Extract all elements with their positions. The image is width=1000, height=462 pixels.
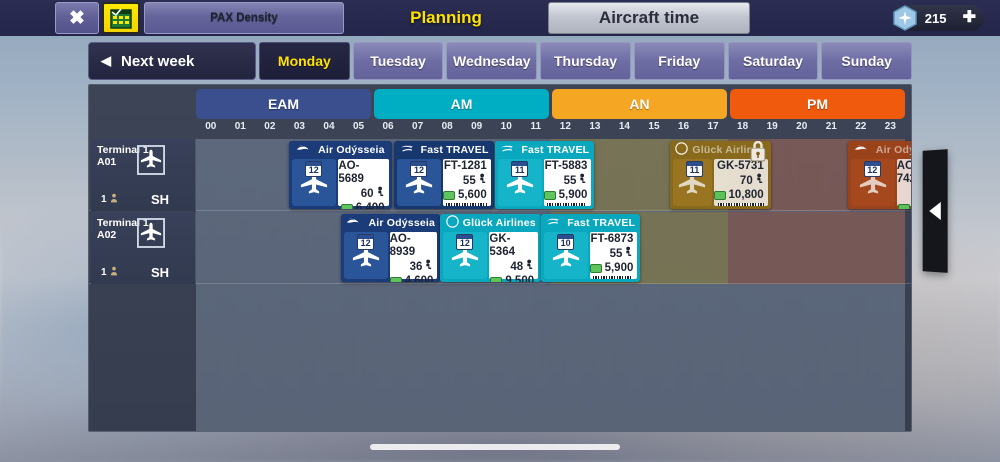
flight-revenue: 5,900: [544, 189, 588, 202]
passenger-icon: [624, 246, 633, 262]
flight-revenue: 7,300: [898, 202, 912, 209]
contract-days-value: 12: [460, 238, 470, 249]
passenger-icon: [424, 259, 433, 275]
passenger-count: 60: [361, 186, 385, 202]
period-label: PM: [807, 96, 828, 112]
hour-tick-11: 11: [521, 121, 551, 137]
stand-row[interactable]: Terminal 1A011SHAir Odýsseia12AO-5689606…: [89, 139, 911, 211]
airline-name: Air Odýsseia: [368, 217, 435, 229]
badge-header: [358, 235, 373, 239]
hour-tick-14: 14: [610, 121, 640, 137]
flight-info: AO-7428607,300: [897, 159, 912, 206]
hour-tick-05: 05: [344, 121, 374, 137]
money-icon: [390, 277, 402, 282]
money-icon: [341, 204, 353, 209]
flight-info: GK-5364489,500: [489, 232, 538, 279]
period-band-cell: [226, 212, 256, 284]
passenger-count-value: 48: [510, 261, 523, 274]
aircraft-stand-icon: [137, 145, 165, 175]
passenger-count-value: 70: [740, 175, 753, 188]
period-header-eam[interactable]: EAM: [196, 89, 371, 119]
day-selector-bar: ◀ Next week MondayTuesdayWednesdayThursd…: [88, 42, 912, 82]
hour-tick-22: 22: [846, 121, 876, 137]
passenger-icon: [110, 266, 118, 279]
row-divider: [89, 283, 911, 284]
aircraft-thumbnail: 12: [344, 232, 387, 279]
airline-brand: Air Odýsseia: [848, 141, 912, 158]
period-label: EAM: [268, 96, 299, 112]
airline-name: Air Odýsseia: [318, 144, 385, 156]
day-tab-label: Friday: [658, 53, 700, 69]
period-band-cell: [669, 212, 699, 284]
period-band-cell: [639, 212, 669, 284]
contract-days-badge: 12: [305, 161, 322, 177]
airline-name: Air Odýsseia: [876, 144, 912, 156]
flight-info: FT-1281555,600: [443, 159, 491, 206]
day-tab-label: Monday: [278, 53, 331, 69]
flight-revenue: 5,900: [590, 262, 634, 275]
day-tab-friday[interactable]: Friday: [634, 42, 725, 80]
hour-tick-02: 02: [255, 121, 285, 137]
planner-header: EAMAMANPM 000102030405060708091011121314…: [89, 85, 911, 139]
flight-revenue-value: 6,400: [356, 202, 385, 209]
period-band-cell: [757, 212, 787, 284]
flight-card[interactable]: Fast TRAVEL10FT-6873555,900: [541, 214, 640, 282]
flight-revenue-value: 10,800: [729, 189, 764, 202]
stand-size-label: SH: [151, 265, 169, 280]
stand-row[interactable]: Terminal 1A021SHAir Odýsseia12AO-8939364…: [89, 212, 911, 284]
hour-tick-16: 16: [669, 121, 699, 137]
aircraft-thumbnail: 12: [851, 159, 895, 206]
flight-card[interactable]: Fast TRAVEL11FT-5883555,900: [495, 141, 594, 209]
day-tab-wednesday[interactable]: Wednesday: [446, 42, 537, 80]
period-header-am[interactable]: AM: [374, 89, 549, 119]
calendar-icon: [109, 6, 133, 30]
stand-capacity: 1: [101, 266, 118, 279]
stand-label-cell[interactable]: Terminal 1A011SH: [91, 139, 196, 211]
contract-days-badge: 10: [557, 234, 574, 250]
flight-number: AO-7428: [897, 160, 912, 186]
stand-label-cell[interactable]: Terminal 1A021SH: [91, 212, 196, 284]
stand-capacity: 1: [101, 193, 118, 206]
period-band-cell: [314, 212, 344, 284]
period-band-cell: [816, 139, 846, 211]
hour-tick-17: 17: [698, 121, 728, 137]
flight-revenue: 9,500: [490, 275, 534, 282]
airline-brand: Fast TRAVEL: [495, 141, 594, 158]
flight-card-body: 11GK-57317010,800: [673, 159, 768, 206]
day-tab-label: Saturday: [743, 53, 803, 69]
tab-pax-density-label: PAX Density: [210, 12, 278, 25]
badge-header: [687, 162, 702, 166]
contract-days-value: 12: [414, 165, 424, 176]
flight-revenue-value: 5,900: [605, 262, 634, 275]
flight-info: AO-8939364,600: [390, 232, 438, 279]
contract-days-value: 12: [361, 238, 371, 249]
period-band-cell: [285, 212, 315, 284]
currency-amount: 215: [919, 11, 953, 26]
stand-capacity-value: 1: [101, 194, 107, 205]
flight-revenue-value: 5,600: [458, 189, 487, 202]
stand-size-label: SH: [151, 192, 169, 207]
badge-header: [457, 235, 472, 239]
calendar-icon-button[interactable]: [102, 2, 140, 34]
barcode: [547, 203, 587, 206]
day-tab-label: Thursday: [554, 53, 617, 69]
flight-card-body: 12AO-7428607,300: [851, 159, 912, 206]
flight-card-body: 10FT-6873555,900: [544, 232, 637, 279]
period-header-an[interactable]: AN: [552, 89, 727, 119]
flight-card-body: 12GK-5364489,500: [443, 232, 538, 279]
tab-pax-density[interactable]: PAX Density: [144, 2, 344, 34]
period-label: AN: [629, 96, 649, 112]
day-tab-label: Tuesday: [370, 53, 426, 69]
aircraft-thumbnail: 11: [498, 159, 541, 206]
passenger-count-value: 55: [463, 175, 476, 188]
airline-brand: Air Odýsseia: [341, 214, 440, 231]
passenger-count: 55: [463, 173, 487, 189]
contract-days-value: 10: [561, 238, 571, 249]
hour-tick-09: 09: [462, 121, 492, 137]
aircraft-thumbnail: 10: [544, 232, 587, 279]
flight-card-body: 11FT-5883555,900: [498, 159, 591, 206]
flight-card[interactable]: Fast TRAVEL12FT-1281555,600: [394, 141, 493, 209]
passenger-count-value: 36: [410, 261, 423, 274]
period-band-cell: [787, 212, 817, 284]
barcode: [593, 276, 633, 279]
currency-display[interactable]: 215 ✚: [893, 5, 984, 31]
passenger-icon: [110, 193, 118, 206]
stand-code: A01: [97, 156, 116, 168]
airline-brand: Fast TRAVEL: [394, 141, 493, 158]
lock-icon: [748, 141, 768, 163]
period-header-pm[interactable]: PM: [730, 89, 905, 119]
flight-revenue-value: 9,500: [505, 275, 534, 282]
hour-tick-10: 10: [491, 121, 521, 137]
period-band-cell: [196, 139, 226, 211]
passenger-icon: [376, 186, 385, 202]
hour-tick-20: 20: [787, 121, 817, 137]
hour-tick-03: 03: [285, 121, 315, 137]
passenger-icon: [525, 259, 534, 275]
passenger-icon: [478, 173, 487, 189]
passenger-count-value: 60: [361, 188, 374, 201]
tab-aircraft-time[interactable]: Aircraft time: [548, 2, 750, 34]
passenger-count: 55: [564, 173, 588, 189]
period-band-cell: [226, 139, 256, 211]
money-icon: [898, 204, 910, 209]
prev-week-arrow-icon[interactable]: ◀: [101, 53, 111, 69]
flight-number: FT-6873: [591, 233, 634, 246]
badge-header: [512, 162, 527, 166]
hour-tick-07: 07: [403, 121, 433, 137]
stand-capacity-value: 1: [101, 267, 107, 278]
money-icon: [714, 191, 726, 200]
horizontal-scrollbar[interactable]: [370, 444, 620, 450]
compass-icon: [446, 215, 459, 231]
airline-brand: Glück Airlines: [440, 214, 541, 231]
hour-tick-21: 21: [816, 121, 846, 137]
airline-name: Fast TRAVEL: [421, 144, 489, 156]
chevron-left-icon: [929, 202, 941, 220]
money-icon: [490, 277, 502, 282]
flight-info: FT-6873555,900: [590, 232, 638, 279]
hour-tick-13: 13: [580, 121, 610, 137]
flight-number: GK-5364: [489, 233, 534, 259]
stand-code: A02: [97, 229, 116, 241]
period-label: AM: [451, 96, 473, 112]
airline-name: Glück Airlines: [463, 217, 536, 229]
tab-planning-label: Planning: [410, 8, 482, 28]
collapse-panel-handle[interactable]: [923, 149, 948, 273]
barcode: [718, 203, 764, 206]
aircraft-stand-icon: [137, 218, 165, 248]
flight-revenue: 10,800: [714, 189, 764, 202]
bird-icon: [296, 144, 314, 156]
flight-revenue-value: 4,600: [405, 275, 434, 282]
flight-revenue: 4,600: [390, 275, 434, 282]
flight-number: AO-5689: [338, 160, 384, 186]
top-toolbar: ✖ PAX Density Planning Aircra: [0, 0, 1000, 36]
barcode: [446, 203, 486, 206]
row-divider: [89, 210, 911, 211]
contract-days-value: 12: [867, 165, 877, 176]
flight-info: AO-5689606,400: [338, 159, 388, 206]
flight-info: GK-57317010,800: [714, 159, 768, 206]
contract-days-value: 11: [690, 165, 700, 176]
money-icon: [544, 191, 556, 200]
passenger-count-value: 55: [564, 175, 577, 188]
hour-tick-01: 01: [226, 121, 256, 137]
flight-info: FT-5883555,900: [544, 159, 592, 206]
contract-days-badge: 11: [686, 161, 703, 177]
flight-card[interactable]: Air Odýsseia12AO-7428607,300: [848, 141, 912, 209]
day-tab-saturday[interactable]: Saturday: [728, 42, 819, 80]
hour-tick-18: 18: [728, 121, 758, 137]
passenger-count: 70: [740, 173, 764, 189]
contract-days-badge: 12: [864, 161, 881, 177]
airline-brand: Fast TRAVEL: [541, 214, 640, 231]
period-band-cell: [728, 212, 758, 284]
plane-token-icon: [891, 4, 919, 32]
hour-ruler: 0001020304050607080910111213141516171819…: [196, 121, 905, 137]
swoosh-icon: [546, 216, 563, 230]
period-band-cell: [196, 212, 226, 284]
passenger-count: 48: [510, 259, 534, 275]
money-icon: [590, 264, 602, 273]
hour-tick-12: 12: [551, 121, 581, 137]
passenger-icon: [755, 173, 764, 189]
day-tab-sunday[interactable]: Sunday: [821, 42, 912, 80]
period-band-cell: [639, 139, 669, 211]
flight-card[interactable]: Glück Airlines12GK-5364489,500: [440, 214, 541, 282]
day-tab-label: Wednesday: [453, 53, 531, 69]
planner-panel: EAMAMANPM 000102030405060708091011121314…: [88, 84, 912, 432]
compass-icon: [675, 142, 688, 158]
period-band-cell: [698, 212, 728, 284]
badge-header: [865, 162, 880, 166]
flight-card[interactable]: Air Odýsseia12AO-8939364,600: [341, 214, 440, 282]
period-header-row: EAMAMANPM: [196, 89, 905, 119]
aircraft-thumbnail: 12: [397, 159, 440, 206]
contract-days-value: 11: [515, 165, 525, 176]
badge-header: [411, 162, 426, 166]
period-band-cell: [876, 212, 906, 284]
period-band-cell: [255, 212, 285, 284]
flight-card-body: 12FT-1281555,600: [397, 159, 490, 206]
aircraft-thumbnail: 11: [673, 159, 712, 206]
airline-name: Fast TRAVEL: [521, 144, 589, 156]
flight-number: FT-5883: [545, 160, 588, 173]
hour-tick-06: 06: [373, 121, 403, 137]
swoosh-icon: [500, 143, 517, 157]
next-week-button[interactable]: ◀ Next week: [88, 42, 256, 80]
passenger-count: 36: [410, 259, 434, 275]
flight-revenue: 5,600: [443, 189, 487, 202]
close-button[interactable]: ✖: [55, 2, 99, 34]
next-week-label: Next week: [121, 53, 194, 70]
flight-card[interactable]: Air Odýsseia12AO-5689606,400: [289, 141, 391, 209]
planner-grid[interactable]: Terminal 1A011SHAir Odýsseia12AO-5689606…: [89, 139, 911, 431]
contract-days-value: 12: [309, 165, 319, 176]
swoosh-icon: [400, 143, 417, 157]
flight-revenue-value: 5,900: [559, 189, 588, 202]
day-tab-label: Sunday: [841, 53, 892, 69]
hour-tick-23: 23: [876, 121, 906, 137]
airline-brand: Air Odýsseia: [289, 141, 391, 158]
bird-icon: [854, 144, 872, 156]
hour-tick-08: 08: [432, 121, 462, 137]
passenger-icon: [578, 173, 587, 189]
period-band-cell: [255, 139, 285, 211]
flight-card-body: 12AO-8939364,600: [344, 232, 437, 279]
contract-days-badge: 12: [357, 234, 374, 250]
flight-card[interactable]: Glück Airlines11GK-57317010,800: [670, 141, 771, 209]
period-band-cell: [610, 139, 640, 211]
airline-name: Fast TRAVEL: [567, 217, 635, 229]
day-tab-tuesday[interactable]: Tuesday: [353, 42, 444, 80]
flight-number: FT-1281: [444, 160, 487, 173]
passenger-count: 55: [610, 246, 634, 262]
contract-days-badge: 12: [456, 234, 473, 250]
contract-days-badge: 11: [511, 161, 528, 177]
hour-tick-15: 15: [639, 121, 669, 137]
badge-header: [558, 235, 573, 239]
flight-revenue: 6,400: [341, 202, 385, 209]
badge-header: [306, 162, 321, 166]
flight-number: AO-8939: [390, 233, 434, 259]
flight-card-body: 12AO-5689606,400: [292, 159, 388, 206]
bird-icon: [346, 217, 364, 229]
add-currency-button[interactable]: ✚: [963, 10, 976, 26]
period-band-cell: [816, 212, 846, 284]
day-tab-thursday[interactable]: Thursday: [540, 42, 631, 80]
tab-aircraft-time-label: Aircraft time: [599, 8, 699, 28]
hour-tick-04: 04: [314, 121, 344, 137]
period-band-cell: [787, 139, 817, 211]
contract-days-badge: 12: [410, 161, 427, 177]
period-band-cell: [846, 212, 876, 284]
passenger-count-value: 55: [610, 248, 623, 261]
tab-planning[interactable]: Planning: [348, 2, 544, 34]
hour-tick-19: 19: [757, 121, 787, 137]
aircraft-thumbnail: 12: [292, 159, 336, 206]
day-tab-monday[interactable]: Monday: [259, 42, 350, 80]
aircraft-thumbnail: 12: [443, 232, 487, 279]
close-icon: ✖: [69, 9, 85, 28]
money-icon: [443, 191, 455, 200]
hour-tick-00: 00: [196, 121, 226, 137]
